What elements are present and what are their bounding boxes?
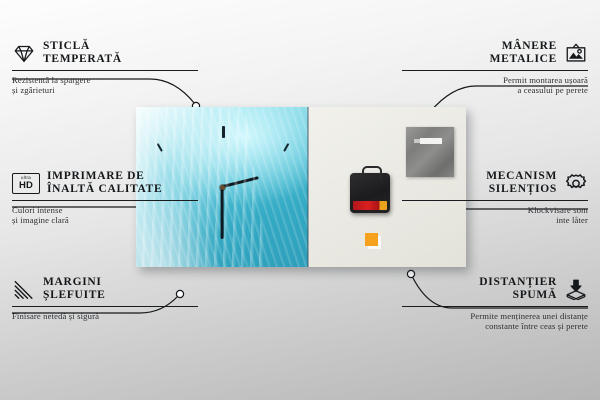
callout-rule <box>12 306 198 307</box>
infographic-canvas: STICLĂ TEMPERATĂ Rezistentă la spargere … <box>0 0 600 400</box>
ultra-hd-main-label: HD <box>19 181 33 191</box>
gear-icon <box>564 173 588 194</box>
clock-minute-hand <box>221 187 224 239</box>
spacer-arrow-icon <box>564 279 588 300</box>
callout-tempered-glass: STICLĂ TEMPERATĂ Rezistentă la spargere … <box>12 40 198 96</box>
hanger-slot <box>420 138 442 144</box>
tick-1 <box>283 143 289 152</box>
callout-title: MÂNERE METALICE <box>490 40 557 66</box>
tick-12 <box>222 126 225 138</box>
beveled-edge-icon <box>12 279 36 300</box>
callout-rule <box>402 200 588 201</box>
callout-title: STICLĂ TEMPERATĂ <box>43 40 122 66</box>
ultra-hd-icon: ultra HD <box>12 173 40 194</box>
callout-title: MECANISM SILENȚIOS <box>486 170 557 196</box>
callout-foam-spacer: DISTANȚIER SPUMĂ Permite menținerea unei… <box>402 276 588 332</box>
callout-desc: Finisare netedă și sigură <box>12 311 198 321</box>
callout-polished-edges: MARGINI ȘLEFUITE Finisare netedă și sigu… <box>12 276 198 321</box>
battery-part <box>353 201 387 210</box>
callout-rule <box>12 70 198 71</box>
callout-silent-mechanism: MECANISM SILENȚIOS Klockvisare som inte … <box>402 170 588 226</box>
picture-hanger-icon <box>564 43 588 64</box>
callout-title: DISTANȚIER SPUMĂ <box>479 276 557 302</box>
callout-desc: Permit montarea ușoară a ceasului pe per… <box>402 75 588 96</box>
callout-rule <box>402 306 588 307</box>
callout-rule <box>12 200 198 201</box>
callout-desc: Culori intense și imagine clară <box>12 205 198 226</box>
tick-11 <box>157 143 163 152</box>
clock-hour-hand <box>222 176 260 188</box>
callout-desc: Permite menținerea unei distanțe constan… <box>402 311 588 332</box>
quartz-movement-part <box>350 173 390 213</box>
callout-print-quality: ultra HD IMPRIMARE DE ÎNALTĂ CALITATE Cu… <box>12 170 198 226</box>
callout-desc: Rezistentă la spargere și zgârieturi <box>12 75 198 96</box>
movement-hook <box>362 166 382 178</box>
callout-desc: Klockvisare som inte låter <box>402 205 588 226</box>
panel-seam <box>307 107 309 267</box>
foam-spacer-part <box>365 233 378 246</box>
callout-rule <box>402 70 588 71</box>
callout-title: MARGINI ȘLEFUITE <box>43 276 105 302</box>
diamond-icon <box>12 43 36 64</box>
clock-pivot <box>220 185 225 190</box>
callout-metal-handles: MÂNERE METALICE Permit montarea ușoară a… <box>402 40 588 96</box>
callout-title: IMPRIMARE DE ÎNALTĂ CALITATE <box>47 170 162 196</box>
